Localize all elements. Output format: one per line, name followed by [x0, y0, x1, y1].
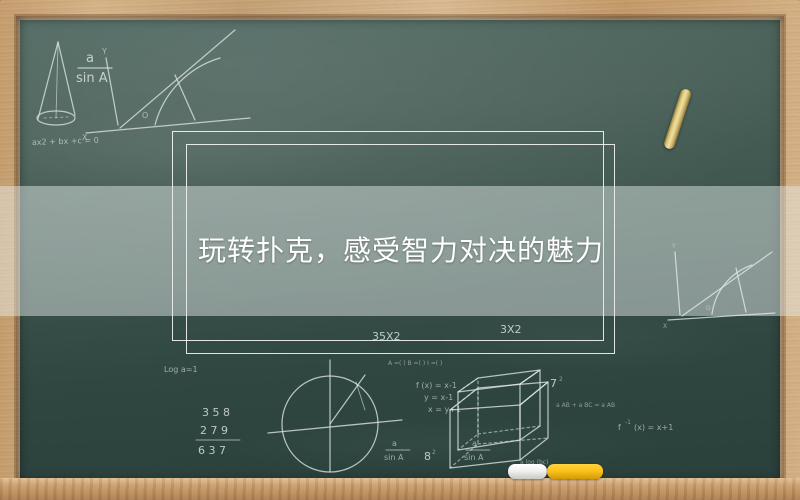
chalk-text-axis-x-right: X — [663, 323, 667, 330]
chalk-text-sinA-denominator: sin A — [76, 71, 108, 86]
chalk-formula-a-over-sinA-topleft: a sin A — [76, 51, 112, 86]
chalk-text-inverse-tail: (x) = x+1 — [634, 423, 673, 432]
chalk-text-func-3: x = y+1 — [428, 405, 461, 414]
chalk-digits-block: 3 5 8 2 7 9 6 3 7 — [196, 406, 240, 457]
chalk-text-sinA-den-b1: sin A — [384, 453, 404, 462]
chalk-text-log-note: Log a=1 — [164, 365, 198, 374]
chalk-stick-yellow-on-tray — [547, 464, 603, 479]
chalk-text-seven-squared: 7 2 — [550, 376, 563, 390]
chalk-text-digits-row2: 2 7 9 — [200, 424, 228, 437]
chalk-text-axis-y-top: Y — [101, 47, 107, 56]
chalk-text-eight-squared: 8 2 — [424, 449, 436, 463]
chalk-text-seven-exp: 2 — [559, 376, 563, 383]
chalk-cube-center — [458, 370, 540, 450]
chalk-text-inverse-exp: -1 — [625, 419, 631, 426]
chalk-angle-diagram-top: Y X O — [82, 30, 250, 142]
chalk-stick-white-on-tray — [508, 464, 547, 479]
chalk-text-digits-row1: 3 5 8 — [202, 406, 230, 419]
chalk-text-quadratic: ax2 + bx +c = 0 — [32, 136, 99, 147]
chalk-text-a-numerator: a — [86, 51, 94, 66]
chalk-functions-block: f (x) = x-1 y = x-1 x = y+1 — [416, 381, 461, 414]
screenshot-canvas: a sin A ax2 + bx +c = 0 Y X O — [0, 0, 800, 500]
chalk-text-func-2: y = x-1 — [424, 393, 453, 402]
chalk-circle-diagram — [268, 360, 402, 472]
chalk-text-inverse-function: f -1 (x) = x+1 — [618, 419, 673, 432]
chalk-text-axis-x-top: X — [82, 133, 88, 142]
chalk-text-func-1: f (x) = x-1 — [416, 381, 457, 390]
chalk-text-sinA-den-b2: sin A — [464, 453, 484, 462]
chalk-text-angle-o-top: O — [142, 111, 148, 120]
chalk-text-a-num-b1: a — [392, 439, 397, 448]
title-container: 玩转扑克，感受智力对决的魅力 — [0, 186, 800, 316]
chalk-formula-a-over-sinA-bottom-1: a sin A — [384, 439, 410, 462]
chalk-text-eight-exp: 2 — [432, 449, 436, 456]
chalk-formula-a-over-sinA-bottom-2: a sin A — [464, 439, 490, 462]
chalk-tray — [0, 478, 800, 500]
chalk-text-seven: 7 — [550, 377, 557, 390]
chalk-text-digits-row3: 6 3 7 — [198, 444, 226, 457]
tray-wood-grain — [0, 478, 800, 500]
chalk-text-inverse-f: f — [618, 423, 621, 432]
chalk-text-matrix-note: A =( ) B =( ) I =( ) — [388, 360, 442, 367]
chalk-cube-right — [450, 382, 548, 468]
banner-title: 玩转扑克，感受智力对决的魅力 — [0, 237, 604, 265]
chalk-text-eight: 8 — [424, 450, 431, 463]
chalk-text-vector-note: a AB + a BC = a AB — [556, 402, 615, 409]
chalk-cone — [37, 42, 75, 125]
chalk-stick-yellow-on-board — [663, 88, 693, 150]
chalk-text-a-num-b2: a — [472, 439, 477, 448]
